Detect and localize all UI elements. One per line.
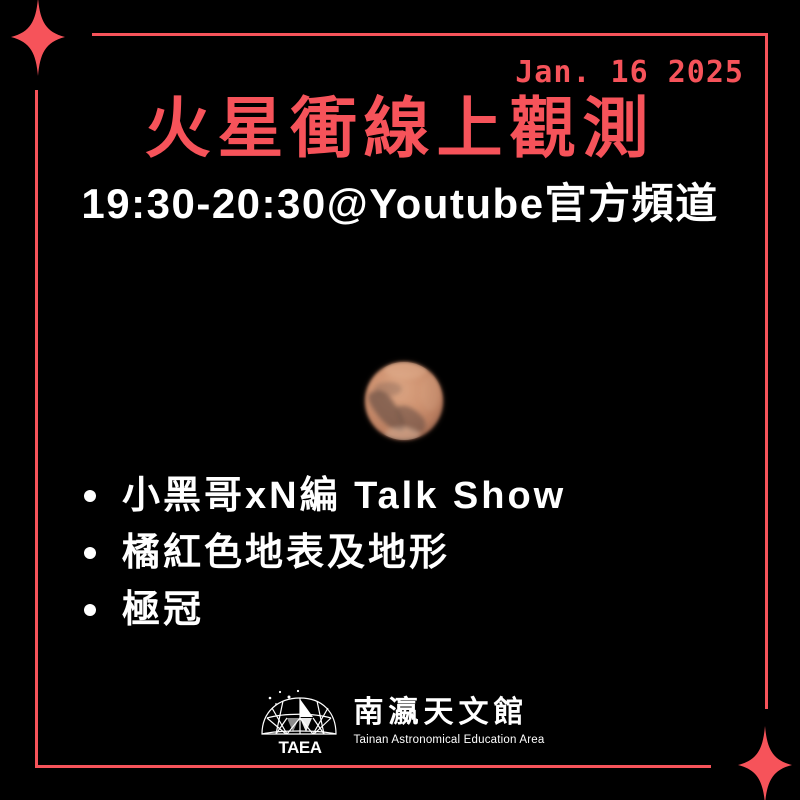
frame-border-left [35, 90, 38, 768]
event-date: Jan. 16 2025 [0, 58, 744, 88]
organization-logo: TAEA 南瀛天文館 Tainan Astronomical Education… [0, 688, 800, 756]
geodesic-dome-icon: TAEA [256, 688, 344, 756]
mars-planet-photo [344, 341, 464, 461]
list-item: 小黑哥xN編 Talk Show [84, 474, 744, 519]
bullet-dot-icon [84, 604, 96, 616]
organization-name-block: 南瀛天文館 Tainan Astronomical Education Area [354, 698, 545, 747]
list-item-label: 橘紅色地表及地形 [122, 531, 450, 576]
logo-acronym: TAEA [278, 738, 321, 756]
frame-border-top [92, 33, 768, 36]
highlights-list: 小黑哥xN編 Talk Show 橘紅色地表及地形 極冠 [84, 474, 744, 644]
bullet-dot-icon [84, 547, 96, 559]
organization-name-en: Tainan Astronomical Education Area [354, 735, 545, 747]
list-item-label: 小黑哥xN編 Talk Show [122, 474, 566, 519]
event-subtitle: 19:30-20:30@Youtube官方頻道 [56, 182, 744, 226]
frame-border-right [765, 33, 768, 709]
list-item: 極冠 [84, 588, 744, 633]
organization-name-cn: 南瀛天文館 [354, 698, 545, 728]
list-item-label: 極冠 [122, 588, 204, 633]
poster-canvas: Jan. 16 2025 火星衝線上觀測 19:30-20:30@Youtube… [0, 0, 800, 800]
list-item: 橘紅色地表及地形 [84, 531, 744, 576]
page-title: 火星衝線上觀測 [56, 95, 744, 162]
frame-border-bottom [35, 765, 711, 768]
bullet-dot-icon [84, 490, 96, 502]
